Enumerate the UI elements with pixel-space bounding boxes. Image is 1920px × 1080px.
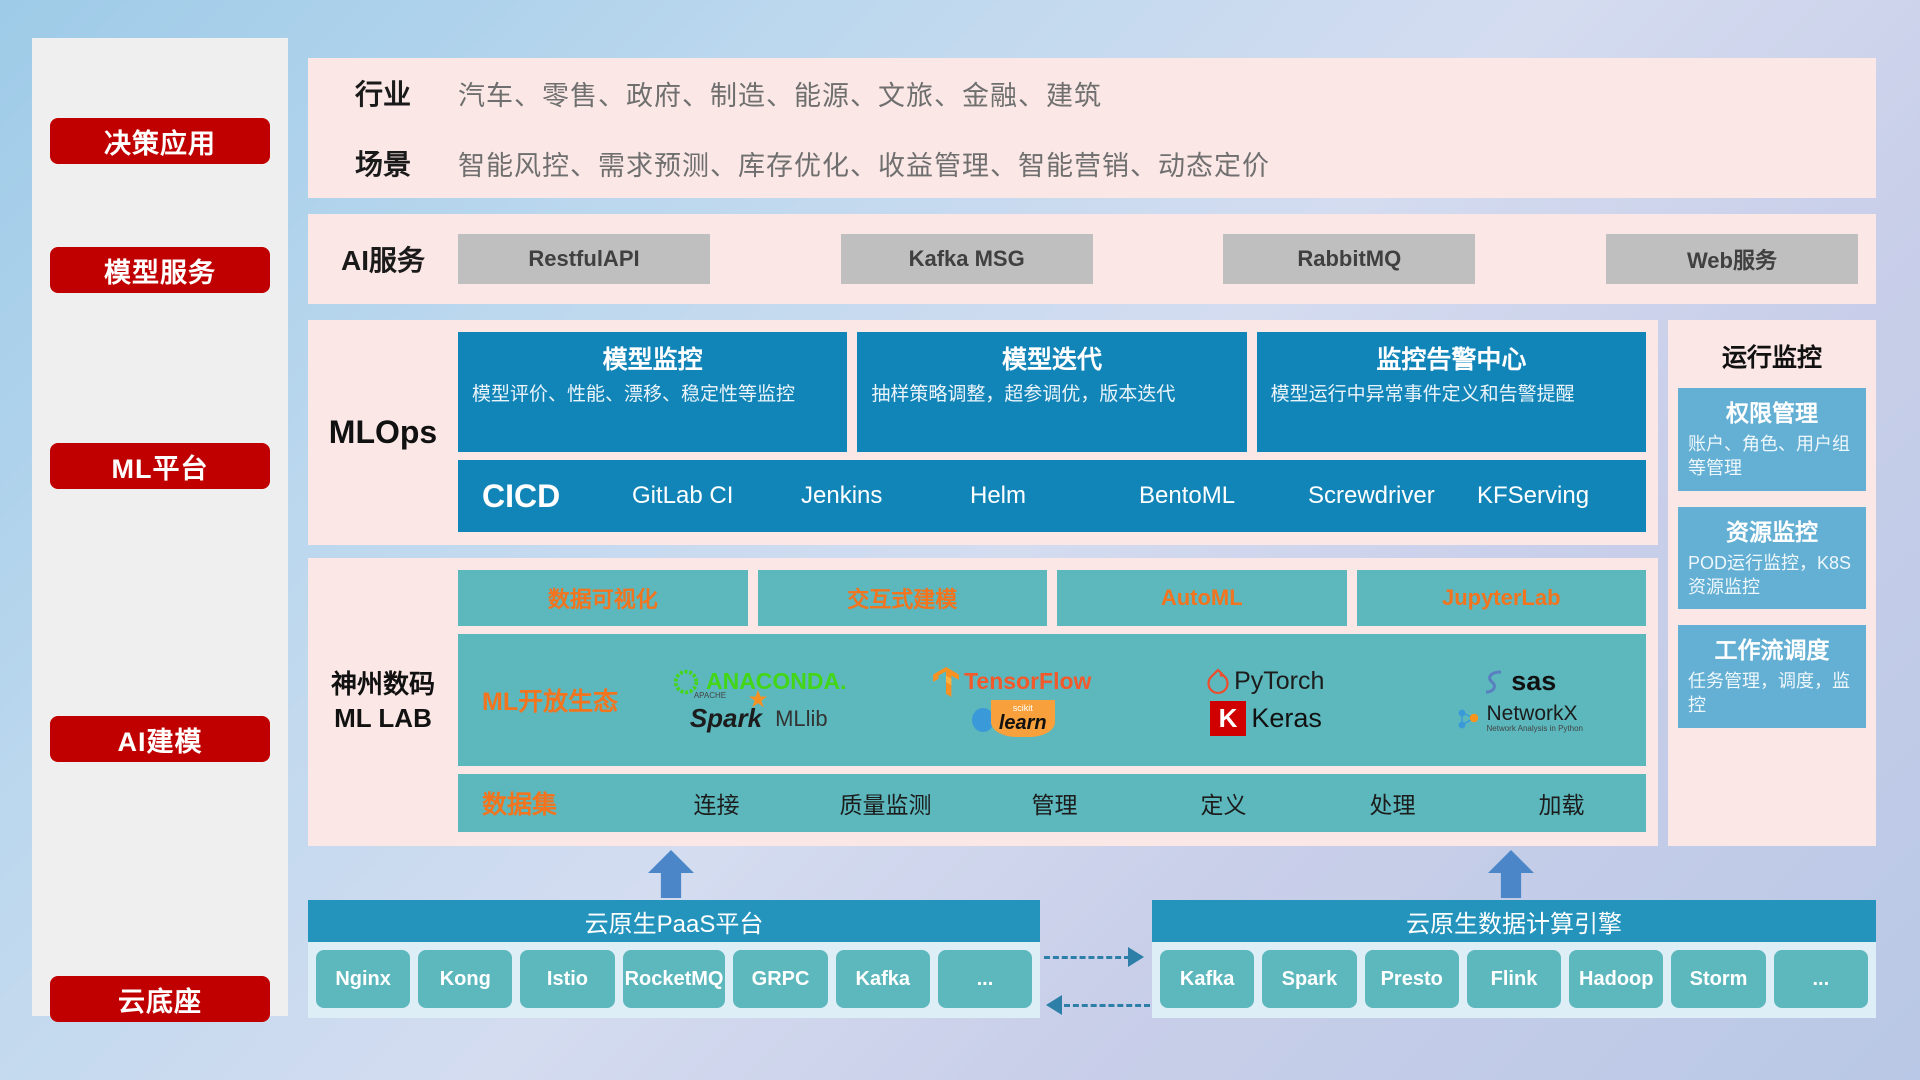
cloud-link-connectors <box>1040 930 1160 1030</box>
keras-logo-text: Keras <box>1251 703 1322 734</box>
card-title: 资源监控 <box>1688 513 1856 547</box>
dataset-item-load[interactable]: 加载 <box>1477 786 1646 820</box>
card-desc: 模型运行中异常事件定义和告警提醒 <box>1271 382 1632 408</box>
card-desc: 任务管理，调度，监控 <box>1688 669 1856 718</box>
ml-lab-tool-automl[interactable]: AutoML <box>1057 570 1347 626</box>
rail-item-model-service[interactable]: 模型服务 <box>50 247 270 293</box>
ai-service-item-rabbitmq[interactable]: RabbitMQ <box>1223 234 1475 284</box>
rail-item-decision-app[interactable]: 决策应用 <box>50 118 270 164</box>
arrow-head-left-icon <box>1046 995 1062 1015</box>
card-title: 监控告警中心 <box>1271 340 1632 376</box>
cicd-bar: CICD GitLab CI Jenkins Helm BentoML Scre… <box>458 460 1646 532</box>
ml-lab-label: 神州数码 ML LAB <box>308 558 458 846</box>
ai-service-panel: AI服务 RestfulAPI Kafka MSG RabbitMQ Web服务 <box>308 214 1876 304</box>
dataset-bar: 数据集 连接 质量监测 管理 定义 处理 加载 <box>458 774 1646 832</box>
learn-label: learn <box>999 713 1047 733</box>
engine-chip-presto[interactable]: Presto <box>1365 950 1459 1008</box>
spark-star-icon <box>748 689 768 709</box>
pytorch-icon <box>1207 668 1229 696</box>
cicd-label: CICD <box>482 478 632 515</box>
ml-lab-tool-jupyterlab[interactable]: JupyterLab <box>1357 570 1647 626</box>
runtime-monitoring-title: 运行监控 <box>1678 338 1866 374</box>
keras-k-icon: K <box>1210 701 1247 736</box>
ml-open-ecosystem-label: ML开放生态 <box>482 682 632 718</box>
rail-item-label: 模型服务 <box>104 251 216 290</box>
industry-label: 行业 <box>308 73 458 113</box>
ml-lab-label-line2: ML LAB <box>334 702 432 736</box>
mllib-logo-text: MLlib <box>775 706 828 732</box>
dataset-item-connect[interactable]: 连接 <box>632 786 801 820</box>
scenario-value: 智能风控、需求预测、库存优化、收益管理、智能营销、动态定价 <box>458 144 1270 183</box>
engine-chip-hadoop[interactable]: Hadoop <box>1569 950 1663 1008</box>
ai-service-item-web[interactable]: Web服务 <box>1606 234 1858 284</box>
monitoring-card-workflow[interactable]: 工作流调度 任务管理，调度，监控 <box>1678 625 1866 728</box>
dataset-label: 数据集 <box>482 785 632 821</box>
ecosystem-logo-grid: ANACONDA. TensorFlow <box>632 663 1646 737</box>
ml-lab-content: 数据可视化 交互式建模 AutoML JupyterLab ML开放生态 ANA… <box>458 558 1658 846</box>
dataset-item-process[interactable]: 处理 <box>1308 786 1477 820</box>
ai-service-label: AI服务 <box>308 239 458 279</box>
card-desc: POD运行监控，K8S资源监控 <box>1688 551 1856 600</box>
cloud-paas-title: 云原生PaaS平台 <box>308 900 1040 942</box>
cloud-data-engine-chip-list: Kafka Spark Presto Flink Hadoop Storm ..… <box>1152 942 1876 1018</box>
industry-value: 汽车、零售、政府、制造、能源、文旅、金融、建筑 <box>458 74 1102 113</box>
mlops-label: MLOps <box>308 320 458 545</box>
arrow-head-right-icon <box>1128 947 1144 967</box>
pytorch-logo-text: PyTorch <box>1234 667 1324 696</box>
rail-item-cloud-base[interactable]: 云底座 <box>50 976 270 1022</box>
cloud-chip-rocketmq[interactable]: RocketMQ <box>623 950 726 1008</box>
pytorch-logo: PyTorch <box>1207 667 1324 696</box>
cicd-item-screwdriver[interactable]: Screwdriver <box>1308 484 1477 508</box>
engine-chip-more[interactable]: ... <box>1774 950 1868 1008</box>
dataset-item-list: 连接 质量监测 管理 定义 处理 加载 <box>632 786 1646 820</box>
cloud-chip-istio[interactable]: Istio <box>520 950 614 1008</box>
cicd-item-gitlab-ci[interactable]: GitLab CI <box>632 484 801 508</box>
engine-chip-flink[interactable]: Flink <box>1467 950 1561 1008</box>
scenario-row: 场景 智能风控、需求预测、库存优化、收益管理、智能营销、动态定价 <box>308 128 1876 198</box>
engine-chip-kafka[interactable]: Kafka <box>1160 950 1254 1008</box>
networkx-logo-text: NetworkX <box>1487 703 1584 725</box>
ai-service-items: RestfulAPI Kafka MSG RabbitMQ Web服务 <box>458 234 1876 284</box>
card-title: 模型监控 <box>472 340 833 376</box>
dash-line-rightward <box>1044 956 1130 959</box>
tensorflow-logo: TensorFlow <box>933 667 1091 697</box>
cloud-data-engine-title: 云原生数据计算引擎 <box>1152 900 1876 942</box>
decision-app-panel: 行业 汽车、零售、政府、制造、能源、文旅、金融、建筑 场景 智能风控、需求预测、… <box>308 58 1876 198</box>
card-title: 模型迭代 <box>871 340 1232 376</box>
apache-label: APACHE <box>694 691 726 700</box>
card-title: 工作流调度 <box>1688 631 1856 665</box>
cloud-chip-grpc[interactable]: GRPC <box>733 950 827 1008</box>
cloud-chip-kong[interactable]: Kong <box>418 950 512 1008</box>
cloud-data-engine-block: 云原生数据计算引擎 Kafka Spark Presto Flink Hadoo… <box>1152 900 1876 1018</box>
ml-lab-panel: 神州数码 ML LAB 数据可视化 交互式建模 AutoML JupyterLa… <box>308 558 1658 846</box>
cloud-chip-nginx[interactable]: Nginx <box>316 950 410 1008</box>
networkx-logo: NetworkX Network Analysis in Python <box>1456 703 1584 733</box>
mlops-card-model-monitoring[interactable]: 模型监控 模型评价、性能、漂移、稳定性等监控 <box>458 332 847 452</box>
ml-lab-tool-interactive[interactable]: 交互式建模 <box>758 570 1048 626</box>
mlops-panel: MLOps 模型监控 模型评价、性能、漂移、稳定性等监控 模型迭代 抽样策略调整… <box>308 320 1658 545</box>
networkx-icon <box>1456 705 1482 733</box>
rail-item-label: 决策应用 <box>104 122 216 161</box>
scenario-label: 场景 <box>308 143 458 183</box>
cicd-item-kfserving[interactable]: KFServing <box>1477 484 1646 508</box>
card-desc: 账户、角色、用户组等管理 <box>1688 432 1856 481</box>
engine-chip-storm[interactable]: Storm <box>1671 950 1765 1008</box>
card-desc: 模型评价、性能、漂移、稳定性等监控 <box>472 382 833 408</box>
monitoring-card-permission[interactable]: 权限管理 账户、角色、用户组等管理 <box>1678 388 1866 491</box>
sas-logo-text: sas <box>1511 666 1556 697</box>
dash-line-leftward <box>1064 1004 1150 1007</box>
engine-chip-spark[interactable]: Spark <box>1262 950 1356 1008</box>
cloud-paas-block: 云原生PaaS平台 Nginx Kong Istio RocketMQ GRPC… <box>308 900 1040 1018</box>
tensorflow-logo-text: TensorFlow <box>964 668 1091 695</box>
mlops-card-alert-center[interactable]: 监控告警中心 模型运行中异常事件定义和告警提醒 <box>1257 332 1646 452</box>
mlops-content: 模型监控 模型评价、性能、漂移、稳定性等监控 模型迭代 抽样策略调整，超参调优，… <box>458 320 1658 545</box>
runtime-monitoring-panel: 运行监控 权限管理 账户、角色、用户组等管理 资源监控 POD运行监控，K8S资… <box>1668 320 1876 846</box>
dataset-item-quality-check[interactable]: 质量监测 <box>801 786 970 820</box>
ai-service-item-kafka-msg[interactable]: Kafka MSG <box>841 234 1093 284</box>
sas-logo: sas <box>1482 666 1556 697</box>
networkx-tagline: Network Analysis in Python <box>1487 725 1584 733</box>
cicd-item-helm[interactable]: Helm <box>970 484 1139 508</box>
rail-item-label: AI建模 <box>118 720 203 759</box>
card-title: 权限管理 <box>1688 394 1856 428</box>
arrow-up-engine-icon <box>1488 850 1534 898</box>
tensorflow-icon <box>933 667 959 697</box>
ml-lab-tool-list: 数据可视化 交互式建模 AutoML JupyterLab <box>458 570 1646 626</box>
dataset-item-manage[interactable]: 管理 <box>970 786 1139 820</box>
cloud-paas-chip-list: Nginx Kong Istio RocketMQ GRPC Kafka ... <box>308 942 1040 1018</box>
rail-item-label: ML平台 <box>112 447 209 486</box>
mlops-card-model-iteration[interactable]: 模型迭代 抽样策略调整，超参调优，版本迭代 <box>857 332 1246 452</box>
cicd-item-jenkins[interactable]: Jenkins <box>801 484 970 508</box>
ai-service-item-restfulapi[interactable]: RestfulAPI <box>458 234 710 284</box>
anaconda-logo-text: ANACONDA. <box>706 668 847 695</box>
mlops-card-list: 模型监控 模型评价、性能、漂移、稳定性等监控 模型迭代 抽样策略调整，超参调优，… <box>458 332 1646 452</box>
rail-item-label: 云底座 <box>118 980 202 1019</box>
monitoring-card-resource[interactable]: 资源监控 POD运行监控，K8S资源监控 <box>1678 507 1866 610</box>
ml-lab-tool-data-viz[interactable]: 数据可视化 <box>458 570 748 626</box>
keras-logo: K Keras <box>1210 701 1322 736</box>
rail-item-ai-modeling[interactable]: AI建模 <box>50 716 270 762</box>
ml-open-ecosystem-band: ML开放生态 ANACONDA. <box>458 634 1646 766</box>
industry-row: 行业 汽车、零售、政府、制造、能源、文旅、金融、建筑 <box>308 58 1876 128</box>
scikit-learn-logo: scikit learn <box>970 700 1055 737</box>
spark-mllib-logo: APACHE Spark MLlib <box>690 703 828 734</box>
architecture-diagram: 决策应用 模型服务 ML平台 AI建模 云底座 行业 汽车、零售、政府、制造、能… <box>0 0 1920 1080</box>
cloud-chip-more[interactable]: ... <box>938 950 1032 1008</box>
cloud-chip-kafka[interactable]: Kafka <box>836 950 930 1008</box>
arrow-up-paas-icon <box>648 850 694 898</box>
left-layer-rail: 决策应用 模型服务 ML平台 AI建模 云底座 <box>32 38 288 1016</box>
card-desc: 抽样策略调整，超参调优，版本迭代 <box>871 382 1232 408</box>
dataset-item-define[interactable]: 定义 <box>1139 786 1308 820</box>
cicd-item-bentoml[interactable]: BentoML <box>1139 484 1308 508</box>
rail-item-ml-platform[interactable]: ML平台 <box>50 443 270 489</box>
sas-icon <box>1482 668 1506 696</box>
cicd-item-list: GitLab CI Jenkins Helm BentoML Screwdriv… <box>632 484 1646 508</box>
ml-lab-label-line1: 神州数码 <box>331 668 435 702</box>
